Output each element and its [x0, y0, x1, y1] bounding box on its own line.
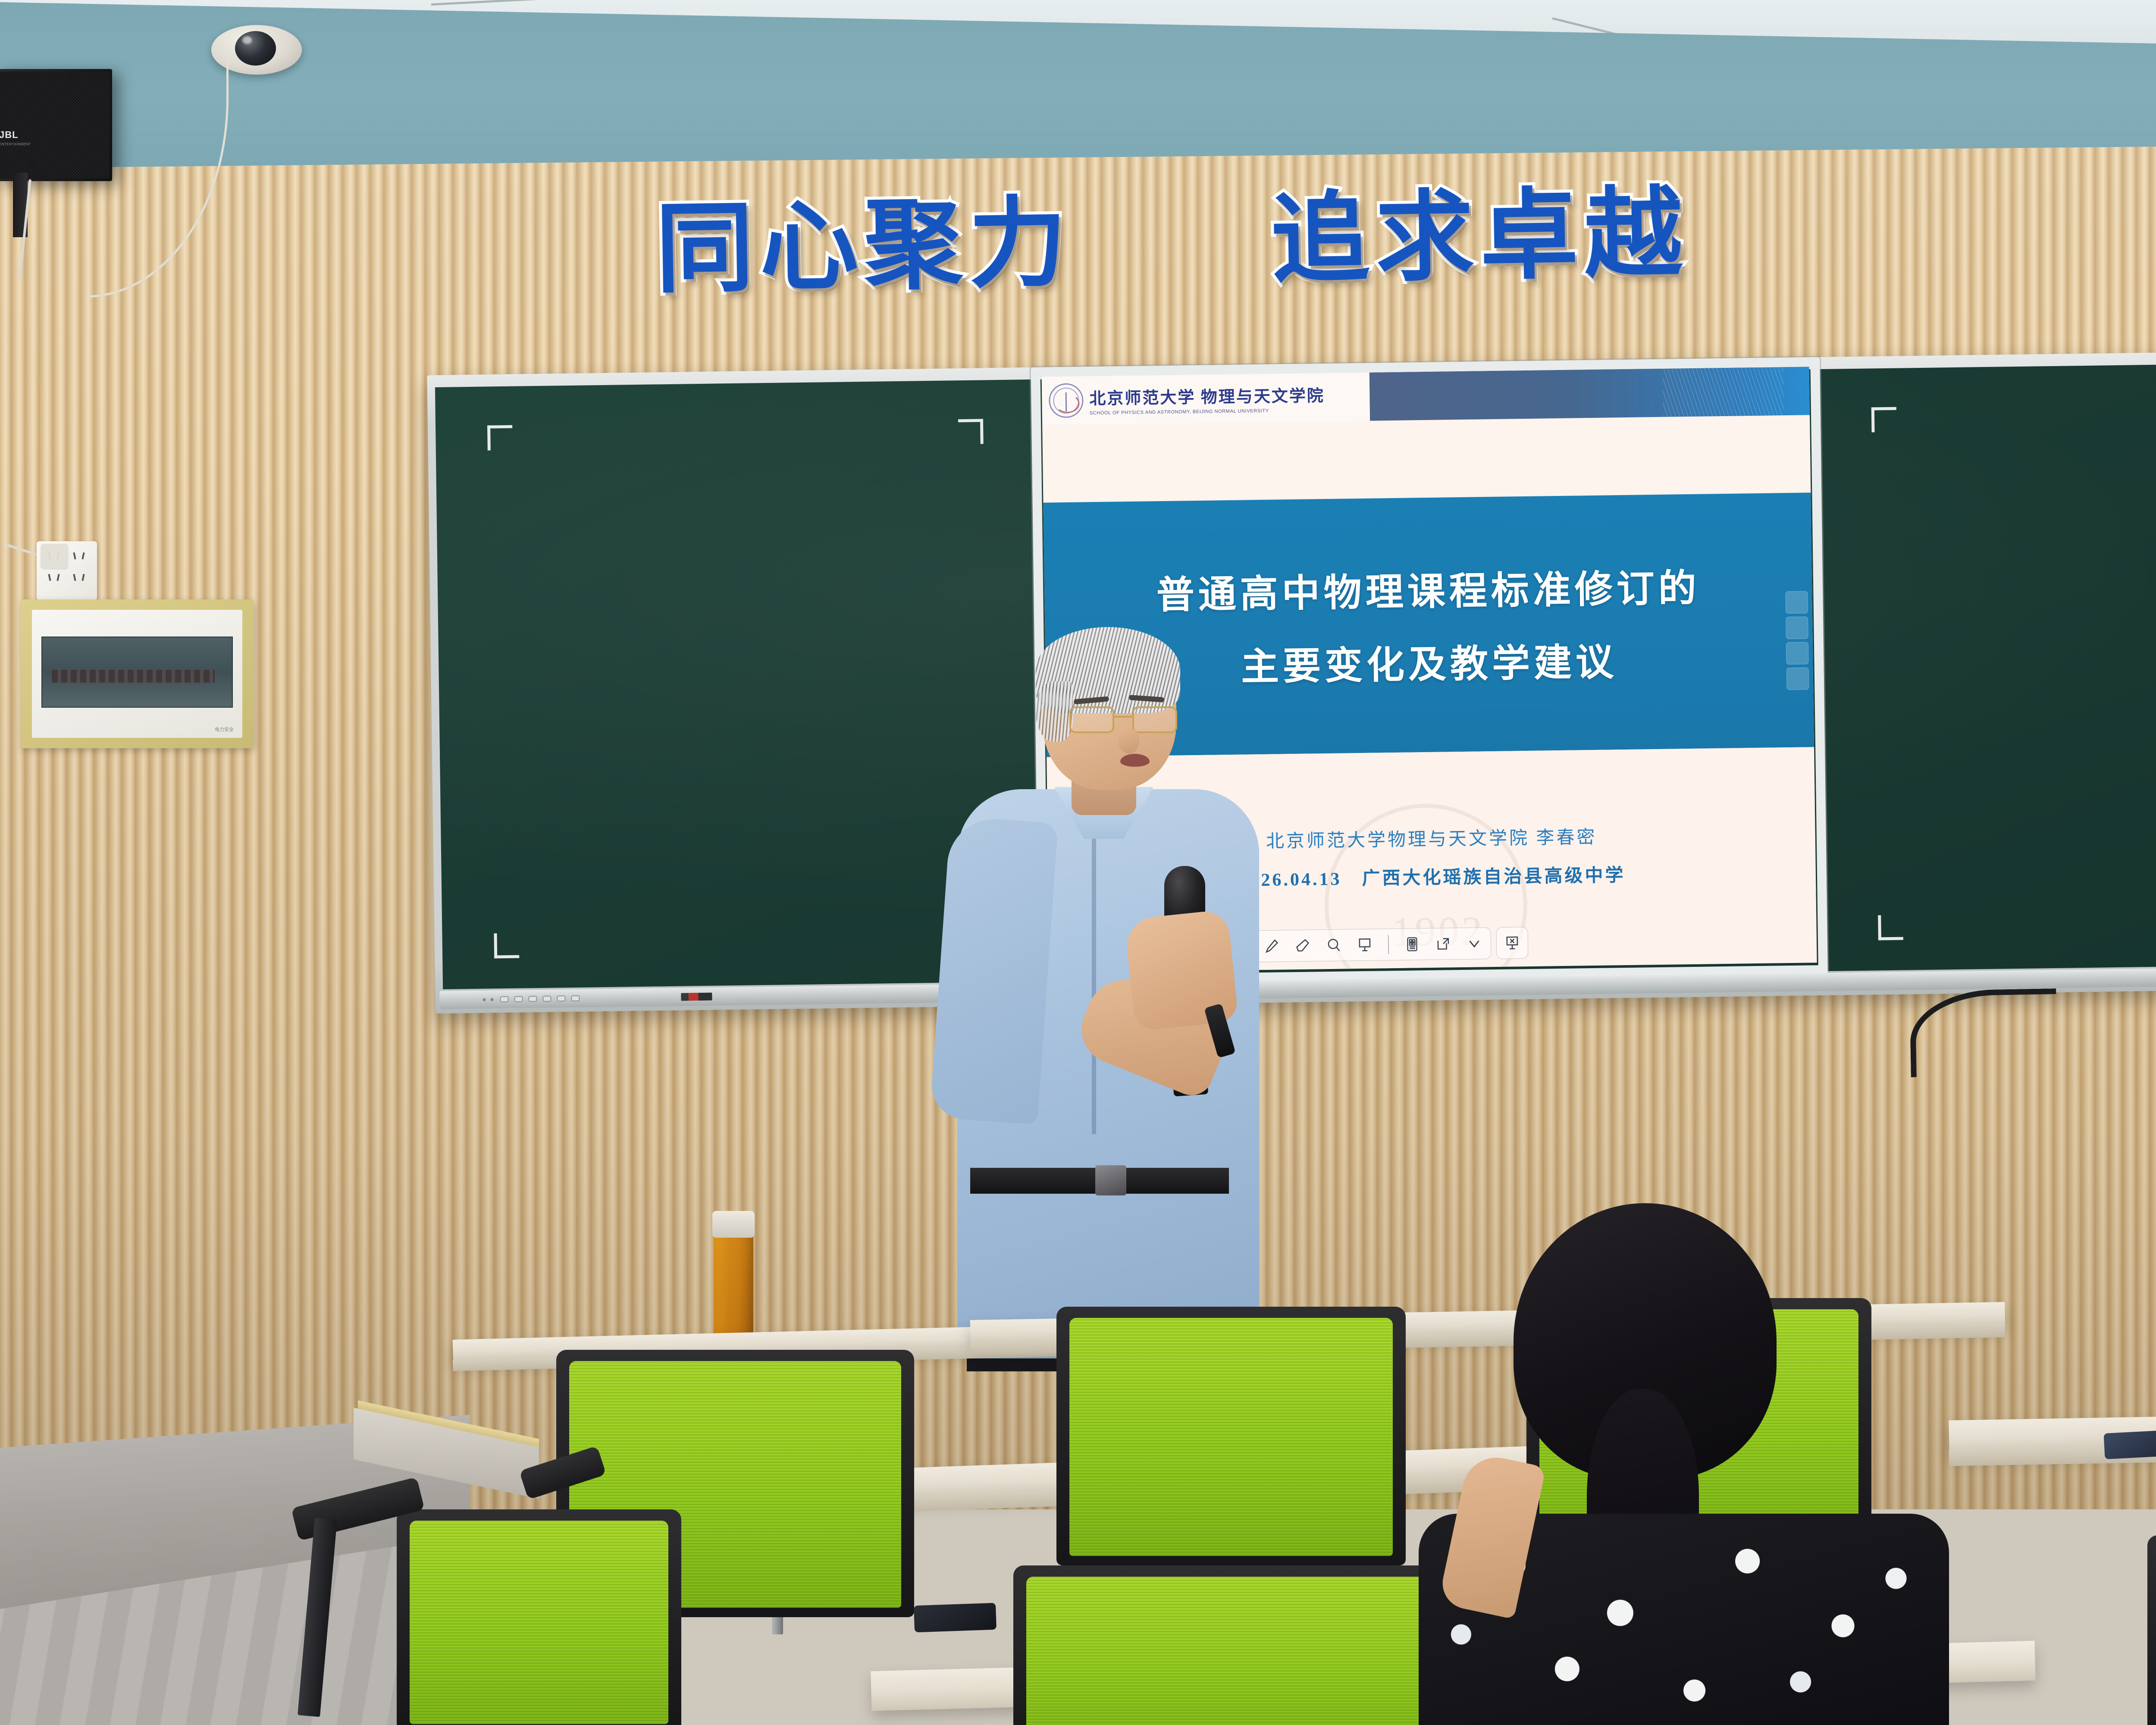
display-button[interactable] [528, 996, 537, 1002]
board-corner-mark [494, 932, 520, 959]
ceiling-grid-line [431, 0, 819, 6]
chevron-down-icon[interactable] [1466, 935, 1482, 951]
slide-title-line-1: 普通高中物理课程标准修订的 [1156, 558, 1701, 619]
banner-phrase-right: 追 求 卓 越 [1270, 185, 1685, 290]
outlet-slot [44, 572, 65, 592]
banner-char: 卓 [1479, 187, 1581, 287]
presenter-shirt-placket [1092, 832, 1096, 1134]
speaker-brand-sublabel: ENTERTAINMENT [0, 142, 31, 146]
chair-mesh-back [1069, 1318, 1393, 1556]
banner-char: 同 [655, 200, 756, 300]
display-button[interactable] [500, 996, 508, 1002]
chair[interactable] [1056, 1307, 1406, 1565]
panel-window [41, 637, 233, 708]
dome-camera-icon [235, 31, 276, 66]
tea-bottle-cap [712, 1211, 755, 1238]
blackboard-assembly: 北京师范大学 物理与天文学院 SCHOOL OF PHYSICS AND AST… [427, 349, 2156, 1013]
board-corner-mark [1878, 914, 1904, 941]
banner-phrase-left: 同 心 聚 力 [655, 195, 1069, 300]
wall-power-outlet[interactable] [37, 541, 97, 600]
magnifier-icon[interactable] [1326, 938, 1341, 953]
tray-indicator [483, 998, 486, 1001]
slide-title-line-2: 主要变化及教学建议 [1241, 631, 1618, 691]
chair-frame [2147, 1535, 2156, 1725]
presenter-sleeve [930, 816, 1058, 1125]
outlet-slot [69, 551, 90, 571]
wall-banner: 同 心 聚 力 追 求 卓 越 [655, 151, 2156, 323]
slide-side-toolbar[interactable] [1785, 591, 1809, 690]
banner-char: 求 [1375, 188, 1476, 289]
toolbar-divider [1388, 935, 1389, 954]
side-tool-button[interactable] [1786, 616, 1808, 639]
banner-char: 心 [759, 198, 861, 298]
camera-lens-glint [242, 36, 252, 44]
board-corner-mark [957, 419, 984, 445]
electrical-panel-body[interactable]: 电力安全 [32, 610, 242, 738]
electrical-panel-frame: 电力安全 [21, 599, 254, 748]
slide-upper-area [1042, 415, 1811, 502]
side-tool-button[interactable] [1785, 591, 1808, 614]
banner-char: 追 [1270, 190, 1372, 290]
banner-char: 聚 [863, 196, 965, 296]
display-button[interactable] [514, 996, 523, 1002]
university-seal-icon [1049, 383, 1084, 418]
exit-presentation-button[interactable] [1496, 927, 1528, 959]
presenter-nose [1119, 729, 1139, 754]
share-icon[interactable] [1435, 936, 1451, 951]
chair[interactable] [397, 1509, 681, 1725]
phone[interactable] [914, 1603, 997, 1633]
glasses-bridge [1114, 716, 1132, 718]
slide-header-gradient [1369, 367, 1810, 420]
presentation-toolbar[interactable] [1224, 927, 1528, 963]
display-button[interactable] [571, 995, 580, 1001]
display-button[interactable] [542, 996, 551, 1002]
chair-mesh-back [410, 1521, 668, 1724]
side-tool-button[interactable] [1786, 642, 1809, 665]
board-corner-mark [1871, 407, 1898, 433]
display-button[interactable] [557, 995, 565, 1001]
presenter-hair-side [1036, 681, 1073, 742]
glasses-lens [1069, 706, 1114, 733]
org-logo-cn: 北京师范大学 物理与天文学院 [1089, 382, 1325, 409]
display-button-row[interactable] [500, 995, 580, 1002]
eraser-icon[interactable] [1295, 938, 1310, 953]
banner-char: 力 [968, 195, 1069, 295]
presenter-mouth [1120, 754, 1150, 767]
audience-member-center [1371, 1199, 1996, 1725]
phone[interactable] [2104, 1430, 2156, 1459]
outlet-slot [69, 572, 90, 592]
classroom-photo-scene: JBL ENTERTAINMENT 电力安全 同 心 聚 力 追 [0, 0, 2156, 1725]
easel-icon[interactable] [1357, 937, 1373, 953]
belt-buckle [1095, 1165, 1126, 1195]
panel-brand-label: 电力安全 [215, 726, 234, 733]
board-corner-mark [487, 425, 514, 452]
exit-presentation-icon[interactable] [1504, 935, 1520, 950]
chair[interactable] [2147, 1535, 2156, 1725]
slide-org-logo: 北京师范大学 物理与天文学院 SCHOOL OF PHYSICS AND AST… [1042, 373, 1370, 425]
speaker-brand-label: JBL [0, 129, 19, 141]
qrcode-icon[interactable] [1404, 936, 1420, 952]
banner-char: 越 [1583, 185, 1685, 285]
display-port-connector[interactable] [681, 993, 712, 1001]
plugged-adapter [41, 544, 68, 568]
org-logo-en: SCHOOL OF PHYSICS AND ASTRONOMY, BEIJING… [1090, 408, 1325, 416]
glasses-lens [1132, 706, 1177, 733]
tray-indicator [490, 998, 493, 1001]
seal-arc [1055, 394, 1080, 414]
presenter [940, 617, 1268, 1358]
breaker-switch-row [52, 670, 215, 683]
side-tool-button[interactable] [1786, 667, 1809, 690]
